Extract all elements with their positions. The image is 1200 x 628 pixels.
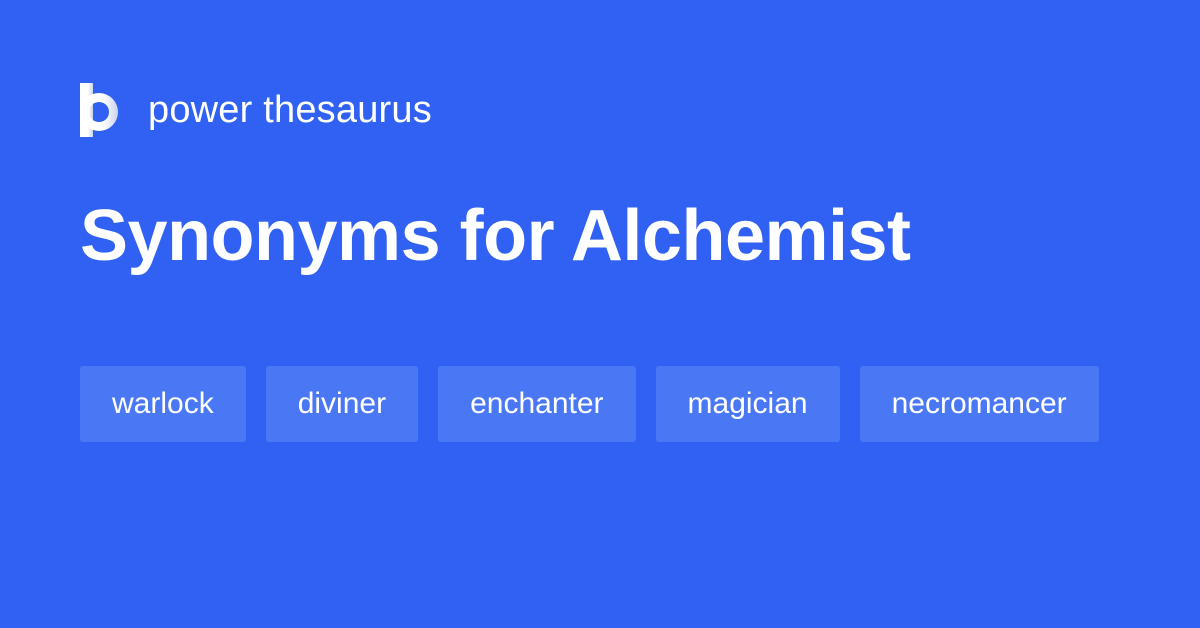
page-root: power thesaurus Synonyms for Alchemist w… [0,0,1200,628]
power-thesaurus-b-logo-icon [80,83,126,137]
synonym-chip[interactable]: warlock [80,366,246,442]
synonym-chip[interactable]: enchanter [438,366,635,442]
synonym-chip-list: warlock diviner enchanter magician necro… [80,366,1120,442]
synonym-chip[interactable]: diviner [266,366,418,442]
brand-name: power thesaurus [148,91,432,129]
synonym-chip[interactable]: necromancer [860,366,1099,442]
brand-logo[interactable]: power thesaurus [80,80,432,140]
synonym-chip[interactable]: magician [656,366,840,442]
page-title: Synonyms for Alchemist [80,200,911,272]
